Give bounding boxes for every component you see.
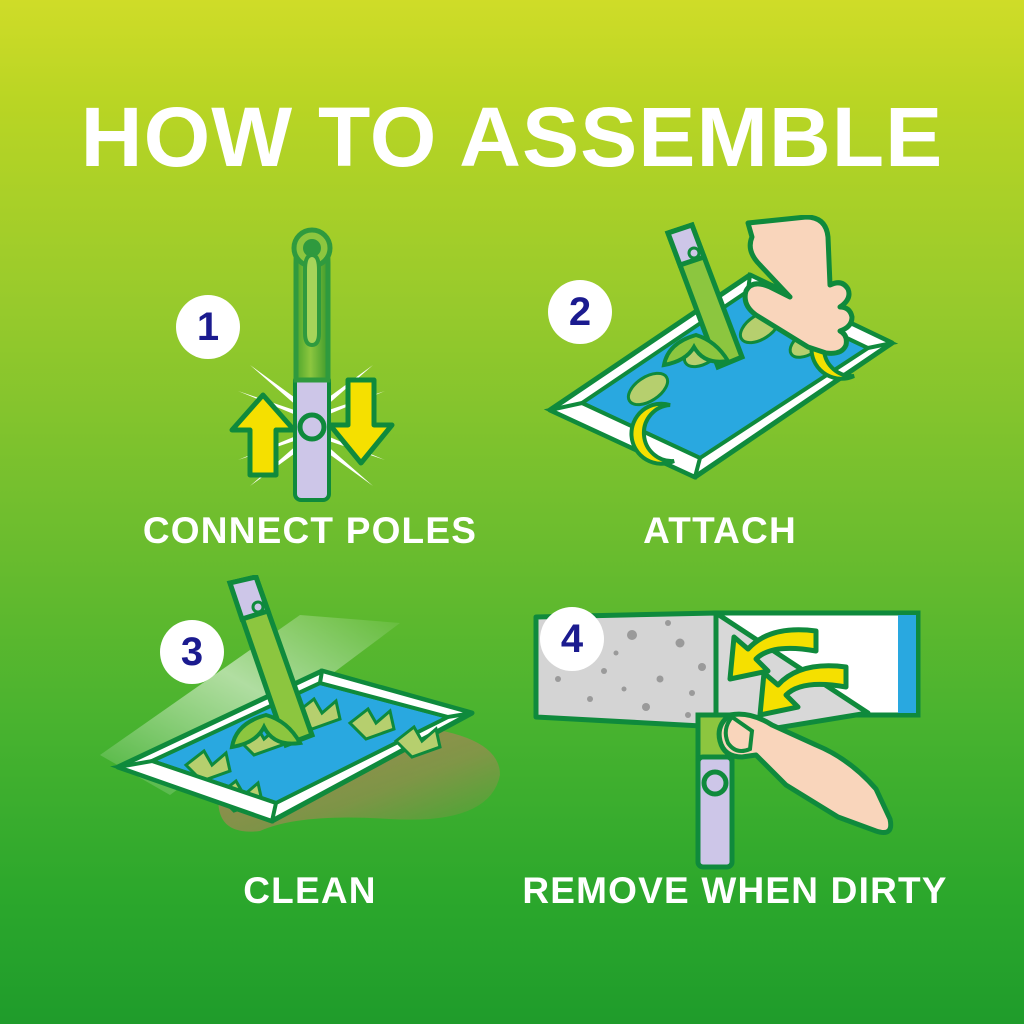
step-1-caption: CONNECT POLES [110,510,510,552]
step-2-caption: ATTACH [520,510,920,552]
how-to-assemble-poster: HOW TO ASSEMBLE [0,0,1024,1024]
step-2-illustration [520,215,920,515]
step-1-number-badge: 1 [176,295,240,359]
blue-edge [898,615,916,713]
step-4-remove-when-dirty: 4 REMOVE WHEN DIRTY [520,575,950,915]
step-4-number-badge: 4 [540,607,604,671]
hand-icon [719,714,891,832]
mop-handle-icon [294,230,330,380]
step-4-caption: REMOVE WHEN DIRTY [520,870,950,912]
step-3-caption: CLEAN [100,870,520,912]
step-2-number-badge: 2 [548,280,612,344]
step-3-clean: 3 CLEAN [100,575,520,915]
page-title: HOW TO ASSEMBLE [0,95,1024,179]
step-1-illustration [110,215,510,515]
step-3-illustration [100,575,520,875]
step-3-number-badge: 3 [160,620,224,684]
step-2-attach: 2 ATTACH [520,215,920,545]
step-1-connect-poles: 1 CONNECT POLES [110,215,510,545]
mop-pole-lower-icon [295,375,329,500]
